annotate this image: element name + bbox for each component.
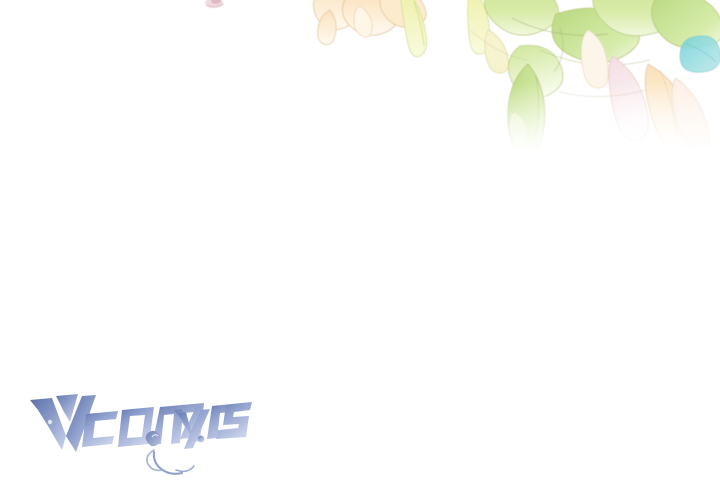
mauve-speck-element <box>205 0 224 8</box>
green-leaf-cluster-element <box>484 0 720 150</box>
floral-artwork <box>0 0 720 150</box>
comic-panel: To Be Continued <box>0 0 720 483</box>
rose-icon <box>146 431 194 474</box>
v-mark-icon <box>30 394 96 452</box>
vcomycs-wordmark <box>82 402 252 449</box>
pink-petal-spray-element <box>581 30 710 150</box>
to-be-continued-text: To Be Continued <box>266 322 686 371</box>
teal-accent-leaf-element <box>680 36 720 72</box>
drifting-leaf-tip <box>510 112 529 146</box>
yellow-blade-group <box>468 0 509 73</box>
vcomycs-watermark <box>26 392 256 480</box>
peach-blossom-cluster-element <box>313 0 426 57</box>
